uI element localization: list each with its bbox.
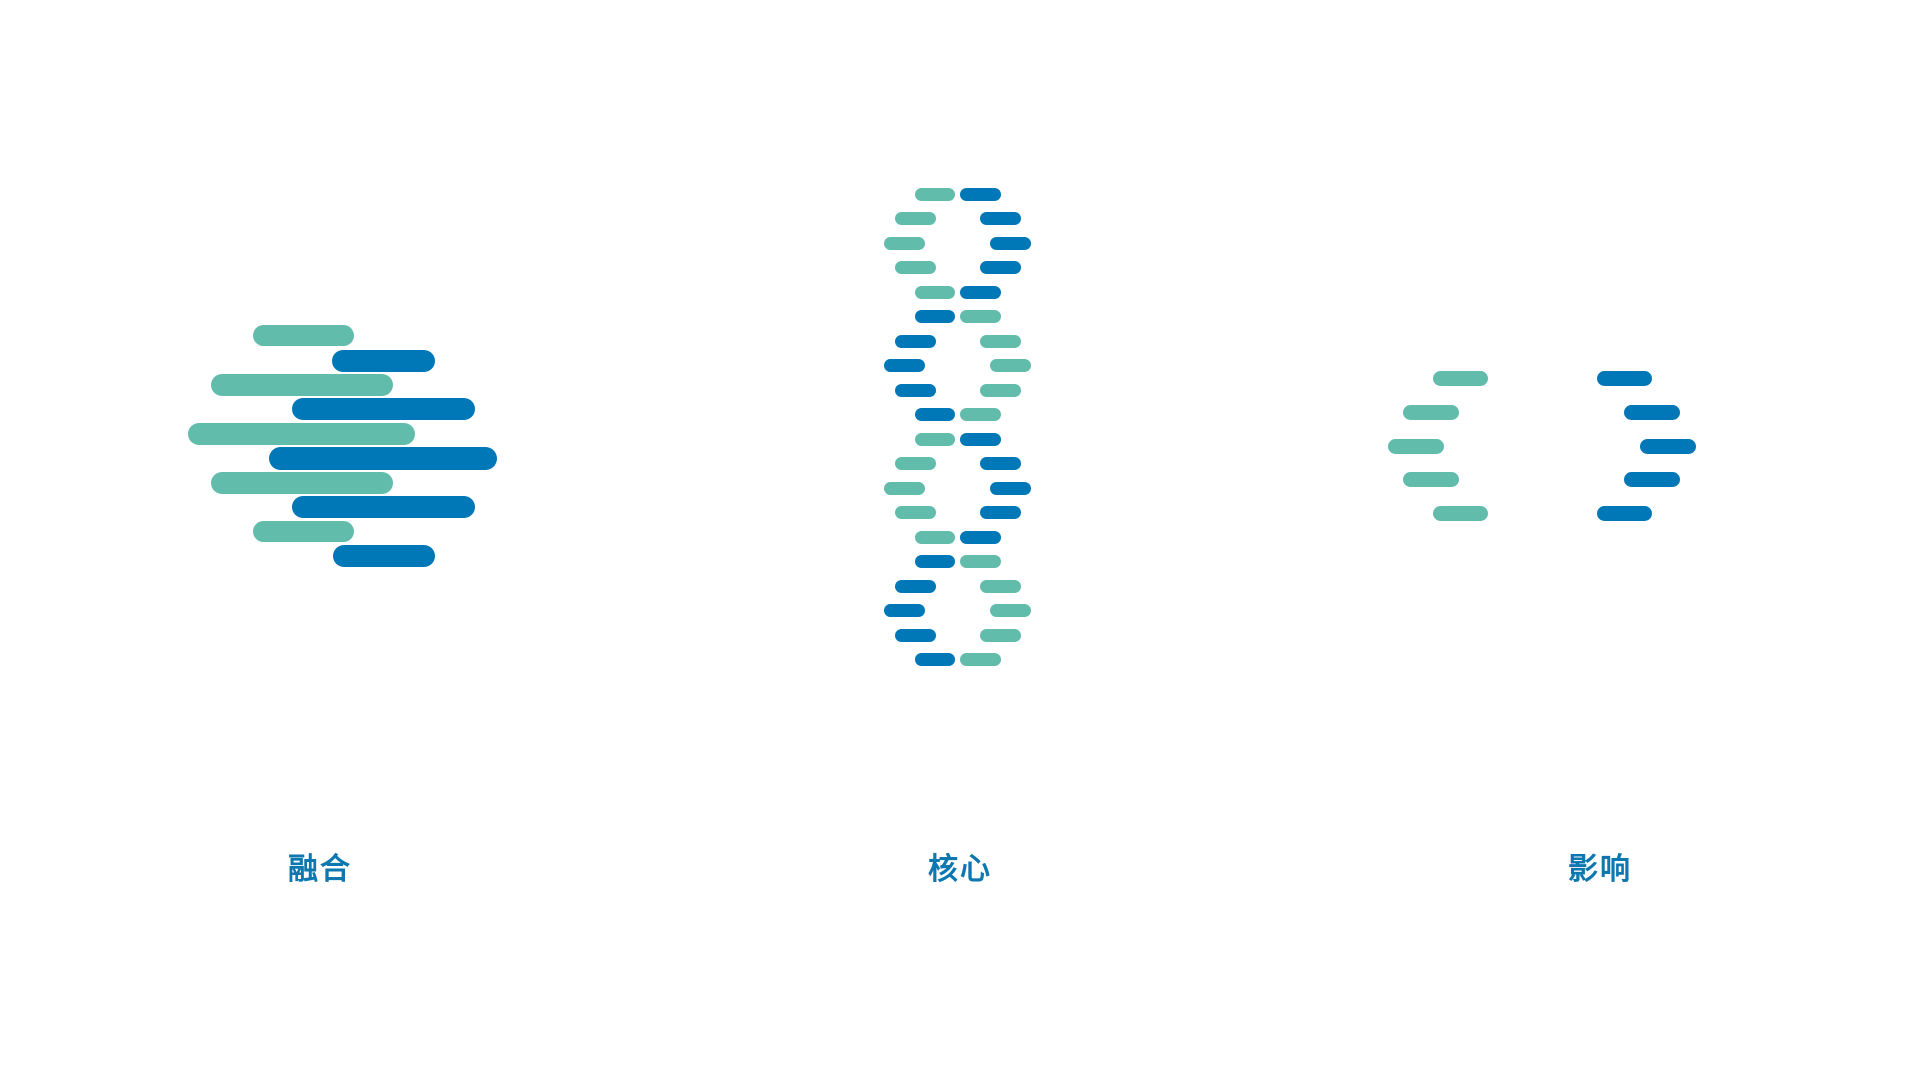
impact-bar [1597,371,1652,386]
impact-bar [1433,506,1488,521]
impact-bar [1403,472,1459,487]
core-label: 核心 [640,855,1280,885]
core-bar [980,335,1021,348]
fusion-label: 融合 [0,855,640,885]
icon-group-fusion: 融合 [0,0,640,1080]
impact-bar [1624,405,1680,420]
core-bar [980,629,1021,642]
core-bar [915,653,955,666]
core-bar [960,286,1001,299]
core-bar [895,261,936,274]
impact-bar [1403,405,1459,420]
impact-bar [1433,371,1488,386]
core-bar [915,408,955,421]
core-bar [884,359,925,372]
fusion-bar [211,472,393,494]
fusion-icon [0,0,640,760]
core-bar [980,580,1021,593]
core-bar [980,506,1021,519]
core-bar [915,286,955,299]
core-bar [980,261,1021,274]
core-bar [895,384,936,397]
core-bar [915,555,955,568]
icon-showcase-canvas: 融合 核心 影响 [0,0,1920,1080]
core-bar [960,433,1001,446]
impact-bar [1640,439,1696,454]
impact-bar [1388,439,1444,454]
core-bar [915,433,955,446]
core-bar [915,188,955,201]
core-bar [960,188,1001,201]
fusion-bar [332,350,435,372]
icon-group-core: 核心 [640,0,1280,1080]
core-bar [980,457,1021,470]
fusion-bar [292,398,475,420]
core-bar [895,580,936,593]
fusion-bar [253,521,354,542]
core-bar [915,310,955,323]
core-bar [990,482,1031,495]
core-bar [960,310,1001,323]
fusion-bar [269,447,497,470]
fusion-bar [211,374,393,396]
core-bar [980,384,1021,397]
core-bar [960,555,1001,568]
impact-bar [1597,506,1652,521]
core-bar [884,604,925,617]
core-bar [990,359,1031,372]
core-bar [960,653,1001,666]
core-bar [884,482,925,495]
core-bar [980,212,1021,225]
impact-bar [1624,472,1680,487]
core-bar [915,531,955,544]
core-bar [895,457,936,470]
fusion-bar [188,423,415,445]
fusion-bar [292,496,475,518]
core-icon [640,0,1280,760]
impact-icon [1280,0,1920,760]
core-bar [895,212,936,225]
core-bar [960,531,1001,544]
core-bar [895,506,936,519]
core-bar [960,408,1001,421]
fusion-bar [253,325,354,346]
core-bar [895,629,936,642]
core-bar [990,237,1031,250]
icon-group-impact: 影响 [1280,0,1920,1080]
core-bar [990,604,1031,617]
core-bar [884,237,925,250]
impact-label: 影响 [1280,855,1920,885]
fusion-bar [333,545,435,567]
core-bar [895,335,936,348]
